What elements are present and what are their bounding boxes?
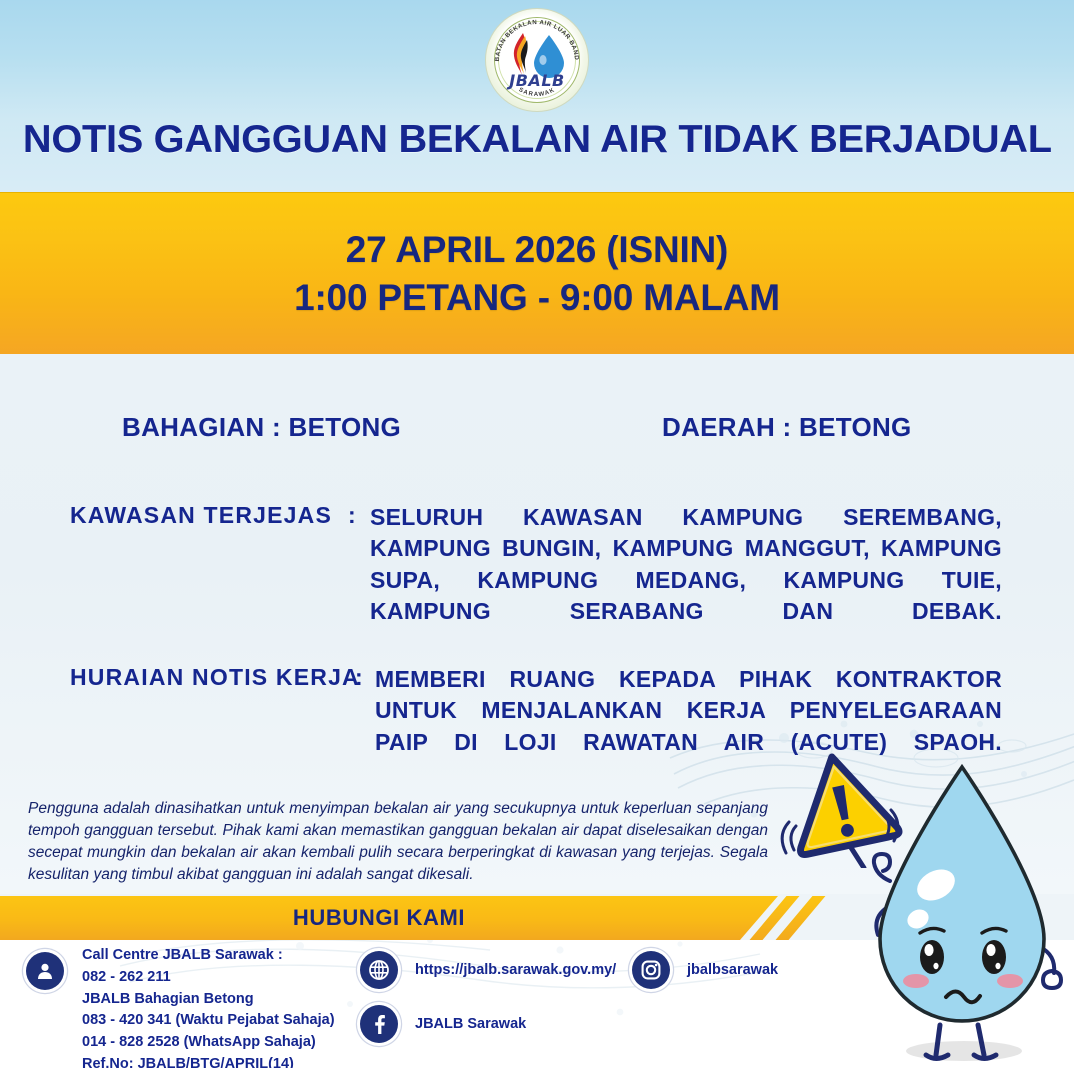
instagram-handle[interactable]: jbalbsarawak: [687, 960, 778, 981]
facebook-handle[interactable]: JBALB Sarawak: [415, 1014, 526, 1035]
division-label: BAHAGIAN : BETONG: [122, 412, 401, 443]
call-centre-title: Call Centre JBALB Sarawak :: [82, 945, 335, 967]
notice-date: 27 APRIL 2026 (ISNIN): [346, 228, 728, 272]
district-label: DAERAH : BETONG: [662, 412, 912, 443]
notice-time: 1:00 PETANG - 9:00 MALAM: [294, 276, 780, 320]
whatsapp-number: 014 - 828 2528 (WhatsApp Sahaja): [82, 1032, 335, 1054]
phone-contact-icon: [26, 952, 64, 990]
poster-header: JABATAN BEKALAN AIR LUAR BANDAR SARAWAK …: [0, 0, 1074, 192]
affected-areas-label: KAWASAN TERJEJAS: [70, 502, 332, 529]
instagram-icon[interactable]: [632, 951, 670, 989]
disclaimer-text: Pengguna adalah dinasihatkan untuk menyi…: [28, 798, 768, 886]
contact-banner: HUBUNGI KAMI: [0, 896, 778, 940]
facebook-icon[interactable]: [360, 1005, 398, 1043]
date-time-band: 27 APRIL 2026 (ISNIN) 1:00 PETANG - 9:00…: [0, 192, 1074, 354]
work-description-label: HURAIAN NOTIS KERJA: [70, 664, 360, 691]
notice-title: NOTIS GANGGUAN BEKALAN AIR TIDAK BERJADU…: [23, 118, 1052, 162]
logo-wordmark: JBALB: [485, 71, 589, 90]
website-url[interactable]: https://jbalb.sarawak.gov.my/: [415, 960, 616, 981]
notice-title-wrap: NOTIS GANGGUAN BEKALAN AIR TIDAK BERJADU…: [0, 118, 1074, 162]
water-droplet-mascot-icon: [844, 735, 1074, 1068]
contact-banner-title: HUBUNGI KAMI: [293, 905, 465, 931]
affected-areas-colon: :: [348, 502, 356, 529]
call-centre-number: 082 - 262 211: [82, 967, 335, 989]
reference-number: Ref.No: JBALB/BTG/APRIL(14): [82, 1054, 335, 1068]
affected-areas-block: KAWASAN TERJEJAS : SELURUH KAWASAN KAMPU…: [70, 502, 1002, 658]
branch-number: 083 - 420 341 (Waktu Pejabat Sahaja): [82, 1010, 335, 1032]
water-disruption-notice-poster: JABATAN BEKALAN AIR LUAR BANDAR SARAWAK …: [0, 0, 1074, 1068]
logo-flame-icon: [511, 32, 531, 76]
branch-title: JBALB Bahagian Betong: [82, 989, 335, 1011]
jbalb-logo: JABATAN BEKALAN AIR LUAR BANDAR SARAWAK …: [485, 8, 589, 112]
work-description-colon: :: [355, 664, 363, 691]
affected-areas-text: SELURUH KAWASAN KAMPUNG SEREMBANG, KAMPU…: [370, 502, 1002, 658]
website-globe-icon[interactable]: [360, 951, 398, 989]
call-centre-block: Call Centre JBALB Sarawak : 082 - 262 21…: [82, 945, 335, 1068]
